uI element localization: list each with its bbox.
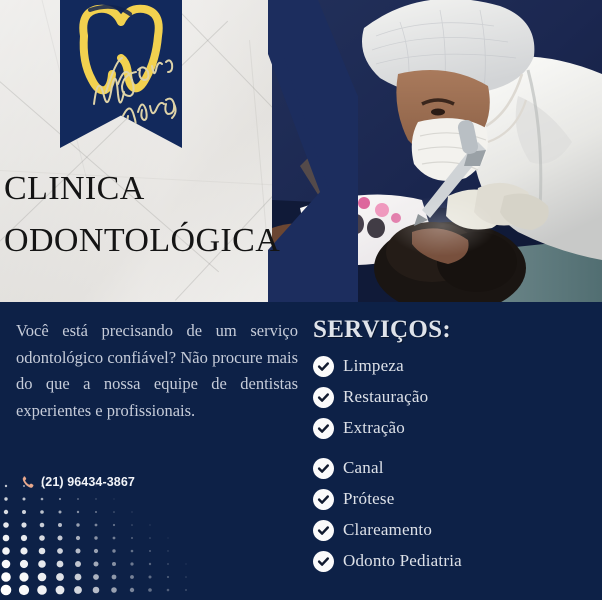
phone-number: (21) 96434-3867 (41, 475, 135, 489)
halftone-dot-pattern (0, 480, 240, 600)
service-item-limpeza[interactable]: Limpeza (313, 353, 593, 379)
services-heading: SERVIÇOS: (313, 316, 593, 344)
check-circle-icon (313, 551, 334, 572)
check-circle-icon (313, 387, 334, 408)
check-circle-icon (313, 418, 334, 439)
phone-handset-icon (20, 475, 34, 489)
service-label: Limpeza (343, 356, 404, 376)
services-block: SERVIÇOS: Limpeza Restauração Extração C… (313, 316, 593, 579)
service-item-odonto-pediatria[interactable]: Odonto Pediatria (313, 548, 593, 574)
service-label: Prótese (343, 489, 394, 509)
service-item-extracao[interactable]: Extração (313, 415, 593, 441)
service-item-canal[interactable]: Canal (313, 455, 593, 481)
services-list: Limpeza Restauração Extração Canal Próte… (313, 353, 593, 574)
service-label: Canal (343, 458, 384, 478)
pitch-paragraph: Você está precisando de um serviço odont… (16, 318, 298, 425)
service-item-clareamento[interactable]: Clareamento (313, 517, 593, 543)
service-label: Odonto Pediatria (343, 551, 462, 571)
body-section: Você está precisando de um serviço odont… (0, 302, 602, 600)
check-circle-icon (313, 458, 334, 479)
check-circle-icon (313, 489, 334, 510)
service-label: Extração (343, 418, 405, 438)
flyer: CLINICA ODONTOLÓGICA Você está precisand… (0, 0, 602, 600)
page-title: CLINICA ODONTOLÓGICA (4, 163, 304, 266)
phone-contact[interactable]: (21) 96434-3867 (20, 475, 135, 489)
service-label: Clareamento (343, 520, 432, 540)
check-circle-icon (313, 520, 334, 541)
service-label: Restauração (343, 387, 428, 407)
header-section: CLINICA ODONTOLÓGICA (0, 0, 602, 302)
check-circle-icon (313, 356, 334, 377)
service-item-protese[interactable]: Prótese (313, 486, 593, 512)
service-item-restauracao[interactable]: Restauração (313, 384, 593, 410)
